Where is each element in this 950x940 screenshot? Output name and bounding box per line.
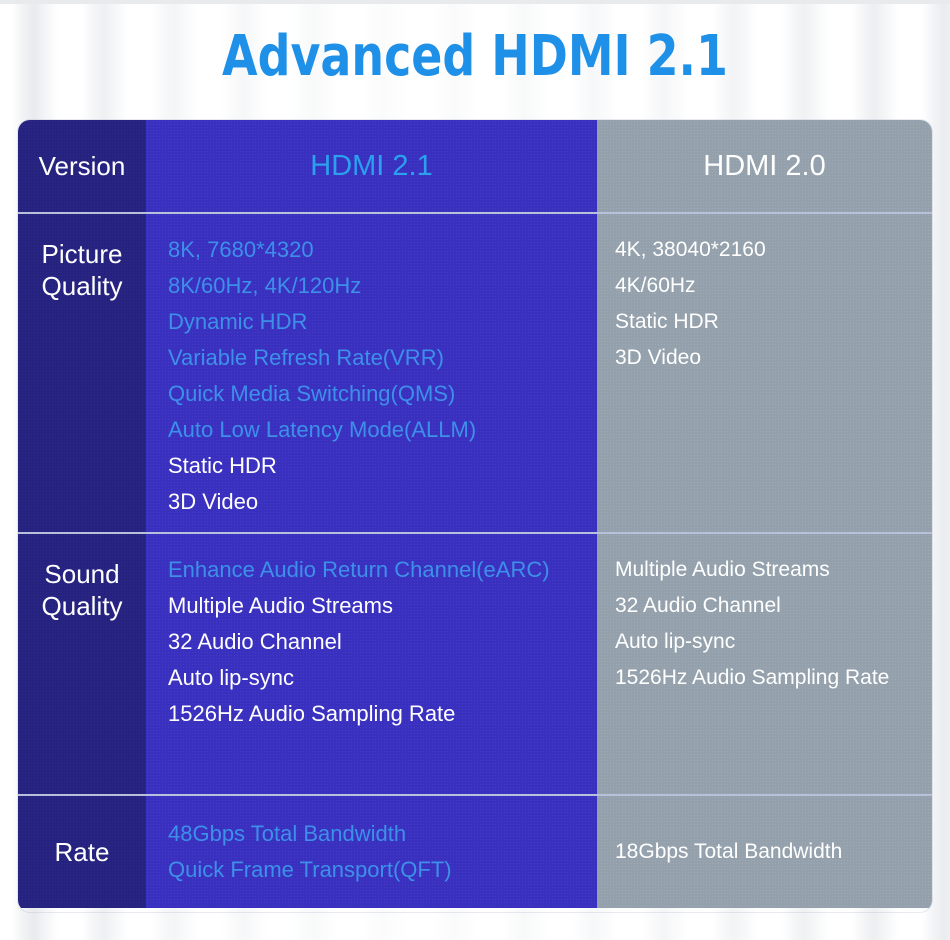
feature-item: 3D Video bbox=[615, 340, 932, 376]
table-row-picture-quality: Picture Quality 8K, 7680*43208K/60Hz, 4K… bbox=[18, 212, 932, 532]
table-row-sound-quality: Sound Quality Enhance Audio Return Chann… bbox=[18, 532, 932, 794]
top-edge-strip bbox=[0, 0, 950, 4]
feature-list-sound-hdmi20: Multiple Audio Streams32 Audio ChannelAu… bbox=[615, 552, 932, 696]
feature-list-picture-hdmi21: 8K, 7680*43208K/60Hz, 4K/120HzDynamic HD… bbox=[168, 232, 597, 520]
hdmi20-header-label: HDMI 2.0 bbox=[703, 150, 825, 183]
header-cell-hdmi21: HDMI 2.1 bbox=[146, 120, 597, 212]
cell-picture-hdmi21: 8K, 7680*43208K/60Hz, 4K/120HzDynamic HD… bbox=[146, 214, 597, 532]
row-label-line1: Picture bbox=[42, 239, 123, 269]
row-label-rate: Rate bbox=[18, 796, 146, 908]
feature-list-picture-hdmi20: 4K, 38040*21604K/60HzStatic HDR3D Video bbox=[615, 232, 932, 376]
row-label-line2: Quality bbox=[42, 591, 123, 621]
hdmi21-header-label: HDMI 2.1 bbox=[310, 150, 432, 183]
cell-rate-hdmi21: 48Gbps Total BandwidthQuick Frame Transp… bbox=[146, 796, 597, 908]
row-label-sound-quality: Sound Quality bbox=[18, 534, 146, 794]
feature-item: Quick Frame Transport(QFT) bbox=[168, 852, 597, 888]
version-header-label: Version bbox=[39, 150, 126, 182]
feature-item: Dynamic HDR bbox=[168, 304, 597, 340]
feature-item: 32 Audio Channel bbox=[168, 624, 597, 660]
feature-item: Auto lip-sync bbox=[168, 660, 597, 696]
feature-item: Multiple Audio Streams bbox=[168, 588, 597, 624]
cell-rate-hdmi20: 18Gbps Total Bandwidth bbox=[597, 796, 932, 908]
cell-picture-hdmi20: 4K, 38040*21604K/60HzStatic HDR3D Video bbox=[597, 214, 932, 532]
feature-item: 48Gbps Total Bandwidth bbox=[168, 816, 597, 852]
header-cell-hdmi20: HDMI 2.0 bbox=[597, 120, 932, 212]
feature-item: Static HDR bbox=[615, 304, 932, 340]
feature-list-sound-hdmi21: Enhance Audio Return Channel(eARC)Multip… bbox=[168, 552, 597, 732]
feature-item: 32 Audio Channel bbox=[615, 588, 932, 624]
cell-sound-hdmi21: Enhance Audio Return Channel(eARC)Multip… bbox=[146, 534, 597, 794]
feature-item: Auto lip-sync bbox=[615, 624, 932, 660]
comparison-table: Version HDMI 2.1 HDMI 2.0 Picture Qualit… bbox=[18, 120, 932, 912]
page-title: Advanced HDMI 2.1 bbox=[86, 24, 865, 90]
cell-sound-hdmi20: Multiple Audio Streams32 Audio ChannelAu… bbox=[597, 534, 932, 794]
feature-item: Static HDR bbox=[168, 448, 597, 484]
feature-item: 1526Hz Audio Sampling Rate bbox=[615, 660, 932, 696]
row-label-picture-quality: Picture Quality bbox=[18, 214, 146, 532]
row-label-line2: Quality bbox=[42, 271, 123, 301]
row-label-text: Sound Quality bbox=[42, 558, 123, 622]
feature-item: 3D Video bbox=[168, 484, 597, 520]
feature-item: 8K/60Hz, 4K/120Hz bbox=[168, 268, 597, 304]
feature-item: Quick Media Switching(QMS) bbox=[168, 376, 597, 412]
table-header-row: Version HDMI 2.1 HDMI 2.0 bbox=[18, 120, 932, 212]
page-background: Advanced HDMI 2.1 Version HDMI 2.1 HDMI … bbox=[0, 0, 950, 940]
feature-item: Enhance Audio Return Channel(eARC) bbox=[168, 552, 597, 588]
row-label-text: Picture Quality bbox=[42, 238, 123, 302]
feature-item: 1526Hz Audio Sampling Rate bbox=[168, 696, 597, 732]
feature-list-rate-hdmi20: 18Gbps Total Bandwidth bbox=[615, 834, 932, 870]
feature-item: Variable Refresh Rate(VRR) bbox=[168, 340, 597, 376]
feature-item: 18Gbps Total Bandwidth bbox=[615, 834, 932, 870]
row-label-line1: Sound bbox=[44, 559, 119, 589]
feature-item: Auto Low Latency Mode(ALLM) bbox=[168, 412, 597, 448]
feature-item: 4K, 38040*2160 bbox=[615, 232, 932, 268]
feature-list-rate-hdmi21: 48Gbps Total BandwidthQuick Frame Transp… bbox=[168, 816, 597, 888]
row-label-text: Rate bbox=[55, 836, 110, 868]
feature-item: 4K/60Hz bbox=[615, 268, 932, 304]
feature-item: 8K, 7680*4320 bbox=[168, 232, 597, 268]
table-row-rate: Rate 48Gbps Total BandwidthQuick Frame T… bbox=[18, 794, 932, 908]
feature-item: Multiple Audio Streams bbox=[615, 552, 932, 588]
header-cell-version: Version bbox=[18, 120, 146, 212]
